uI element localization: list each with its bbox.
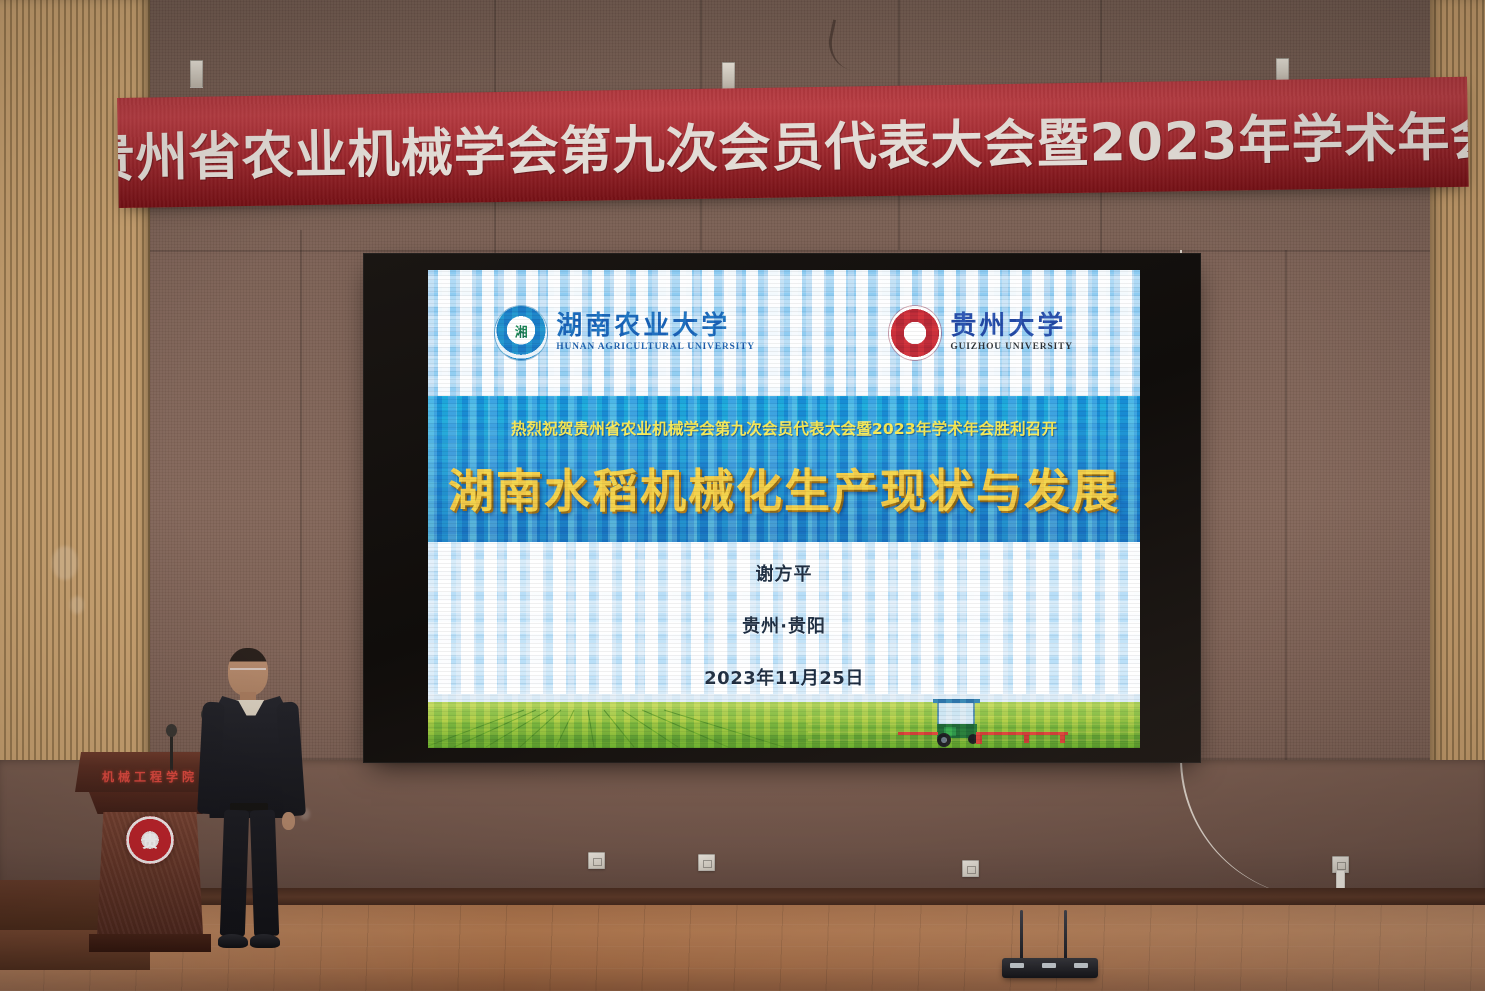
- wall-panel-seam: [0, 250, 1485, 252]
- presenter-person: [196, 648, 306, 958]
- university-name-block: 湖南农业大学 HUNAN AGRICULTURAL UNIVERSITY: [556, 313, 755, 353]
- wall-outlet[interactable]: [698, 854, 715, 871]
- slide-presenter-name: 谢方平: [756, 560, 813, 586]
- router-antenna: [1064, 910, 1067, 960]
- slide-body: 谢方平 贵州·贵阳 2023年11月25日: [428, 542, 1140, 748]
- wall-outlet[interactable]: [588, 852, 605, 869]
- wall-scuff: [70, 596, 84, 614]
- seal-character: 湘: [515, 327, 528, 340]
- presenter-legs: [222, 810, 278, 936]
- slide-main-title: 湖南水稻机械化生产现状与发展: [448, 455, 1120, 521]
- university-name-block: 贵州大学 GUIZHOU UNIVERSITY: [950, 313, 1072, 353]
- university-name-en: GUIZHOU UNIVERSITY: [950, 343, 1072, 353]
- wall-bracket: [190, 60, 203, 88]
- logo-guizhou-university: 贵 贵州大学 GUIZHOU UNIVERSITY: [889, 306, 1072, 360]
- field-tractor-illustration-icon: [428, 694, 1140, 748]
- slide-date: 2023年11月25日: [704, 664, 864, 690]
- slide-field-tractor-image: [428, 694, 1140, 748]
- seal-character: 贵: [142, 828, 158, 852]
- router-indicator-light: [1074, 963, 1088, 968]
- led-screen-bezel: 湘 湖南农业大学 HUNAN AGRICULTURAL UNIVERSITY 贵…: [363, 253, 1201, 763]
- wall-scuff: [52, 546, 78, 580]
- guizhou-university-seal-icon: 贵: [889, 306, 941, 360]
- university-name-cn: 贵州大学: [950, 313, 1072, 340]
- banner-text: 贵州省农业机械学会第九次会员代表大会暨2023年学术年会: [117, 94, 1469, 191]
- conference-banner: 贵州省农业机械学会第九次会员代表大会暨2023年学术年会: [117, 77, 1469, 208]
- slide-logo-band: 湘 湖南农业大学 HUNAN AGRICULTURAL UNIVERSITY 贵…: [428, 270, 1140, 396]
- presenter-shoe: [218, 934, 248, 948]
- podium-label: 机械工程学院: [75, 768, 225, 785]
- wireless-router[interactable]: [1002, 952, 1098, 978]
- university-name-en: HUNAN AGRICULTURAL UNIVERSITY: [556, 343, 755, 353]
- podium-base: [89, 934, 211, 952]
- presenter-leg: [220, 810, 249, 937]
- hunan-agricultural-university-seal-icon: 湘: [495, 306, 547, 360]
- slide-title-band: 热烈祝贺贵州省农业机械学会第九次会员代表大会暨2023年学术年会胜利召开 湖南水…: [428, 396, 1140, 542]
- slide-location: 贵州·贵阳: [742, 612, 826, 638]
- router-body: [1002, 958, 1098, 978]
- router-antenna: [1020, 910, 1023, 960]
- seal-character: 贵: [907, 325, 924, 342]
- presenter-shoe: [250, 934, 280, 948]
- guizhou-university-seal-icon: 贵: [126, 816, 174, 864]
- presenter-hand: [282, 812, 295, 830]
- router-indicator-light: [1042, 963, 1056, 968]
- wall-bracket: [722, 62, 735, 90]
- university-name-cn: 湖南农业大学: [556, 313, 755, 340]
- slide-byline: 谢方平 贵州·贵阳 2023年11月25日: [428, 560, 1140, 690]
- eyeglasses-icon: [230, 668, 266, 677]
- wall-outlet[interactable]: [962, 860, 979, 877]
- slide-congratulation-line: 热烈祝贺贵州省农业机械学会第九次会员代表大会暨2023年学术年会胜利召开: [511, 417, 1057, 439]
- router-indicator-light: [1010, 963, 1024, 968]
- conference-hall-scene: 贵州省农业机械学会第九次会员代表大会暨2023年学术年会 湘 湖南农业大学 HU…: [0, 0, 1485, 991]
- presenter-leg: [250, 810, 279, 937]
- logo-hunan-agricultural-university: 湘 湖南农业大学 HUNAN AGRICULTURAL UNIVERSITY: [495, 306, 755, 360]
- presentation-slide[interactable]: 湘 湖南农业大学 HUNAN AGRICULTURAL UNIVERSITY 贵…: [428, 270, 1140, 748]
- podium-neck: [89, 792, 211, 814]
